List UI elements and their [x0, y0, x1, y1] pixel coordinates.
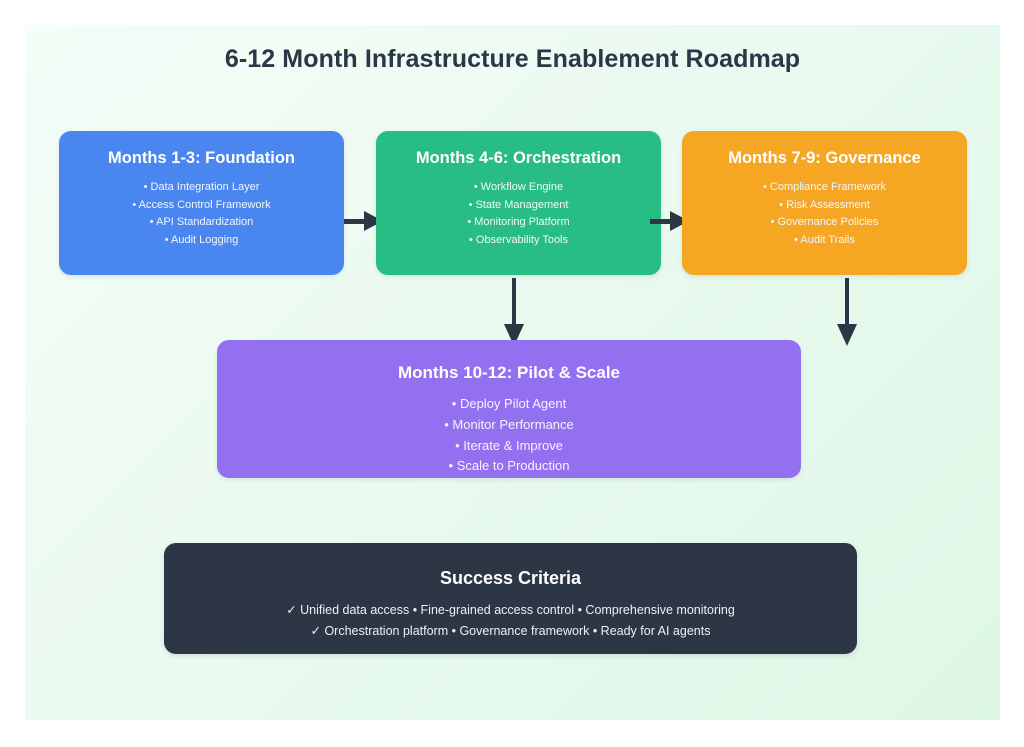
- phase-item: • Audit Trails: [682, 232, 967, 250]
- phase-item: • Iterate & Improve: [217, 436, 801, 457]
- phase-title-orchestration: Months 4-6: Orchestration: [376, 148, 661, 168]
- arrow-orchestration-to-pilot-icon: [504, 278, 524, 346]
- phase-title-foundation: Months 1-3: Foundation: [59, 148, 344, 168]
- phase-item: • Governance Policies: [682, 214, 967, 232]
- phase-items-pilot: • Deploy Pilot Agent • Monitor Performan…: [217, 394, 801, 477]
- phase-item: • Observability Tools: [376, 232, 661, 250]
- success-criteria-box: Success Criteria ✓ Unified data access •…: [164, 543, 857, 654]
- arrow-stem: [650, 219, 672, 224]
- phase-items-governance: • Compliance Framework • Risk Assessment…: [682, 179, 967, 249]
- phase-items-foundation: • Data Integration Layer • Access Contro…: [59, 179, 344, 249]
- phase-item: • API Standardization: [59, 214, 344, 232]
- phase-item: • Monitor Performance: [217, 415, 801, 436]
- phase-box-foundation[interactable]: Months 1-3: Foundation • Data Integratio…: [59, 131, 344, 275]
- phase-item: • Audit Logging: [59, 232, 344, 250]
- success-criteria-line: ✓ Orchestration platform • Governance fr…: [164, 621, 857, 642]
- arrow-governance-to-pilot-icon: [837, 278, 857, 346]
- phase-items-orchestration: • Workflow Engine • State Management • M…: [376, 179, 661, 249]
- phase-item: • Monitoring Platform: [376, 214, 661, 232]
- phase-box-orchestration[interactable]: Months 4-6: Orchestration • Workflow Eng…: [376, 131, 661, 275]
- phase-title-pilot: Months 10-12: Pilot & Scale: [217, 363, 801, 383]
- phase-item: • Access Control Framework: [59, 197, 344, 215]
- success-criteria-line: ✓ Unified data access • Fine-grained acc…: [164, 600, 857, 621]
- success-criteria-title: Success Criteria: [164, 567, 857, 589]
- phase-item: • Compliance Framework: [682, 179, 967, 197]
- phase-box-governance[interactable]: Months 7-9: Governance • Compliance Fram…: [682, 131, 967, 275]
- phase-item: • Workflow Engine: [376, 179, 661, 197]
- phase-title-governance: Months 7-9: Governance: [682, 148, 967, 168]
- success-criteria-lines: ✓ Unified data access • Fine-grained acc…: [164, 600, 857, 642]
- phase-item: • State Management: [376, 197, 661, 215]
- phase-item: • Risk Assessment: [682, 197, 967, 215]
- phase-item: • Data Integration Layer: [59, 179, 344, 197]
- phase-item: • Deploy Pilot Agent: [217, 394, 801, 415]
- page-title: 6-12 Month Infrastructure Enablement Roa…: [25, 45, 1000, 74]
- phase-item: • Scale to Production: [217, 456, 801, 477]
- arrow-stem: [344, 219, 366, 224]
- phase-box-pilot[interactable]: Months 10-12: Pilot & Scale • Deploy Pil…: [217, 340, 801, 478]
- arrow-stem: [512, 278, 516, 328]
- roadmap-canvas: 6-12 Month Infrastructure Enablement Roa…: [25, 25, 1000, 720]
- arrow-stem: [845, 278, 849, 328]
- arrow-head: [837, 324, 857, 346]
